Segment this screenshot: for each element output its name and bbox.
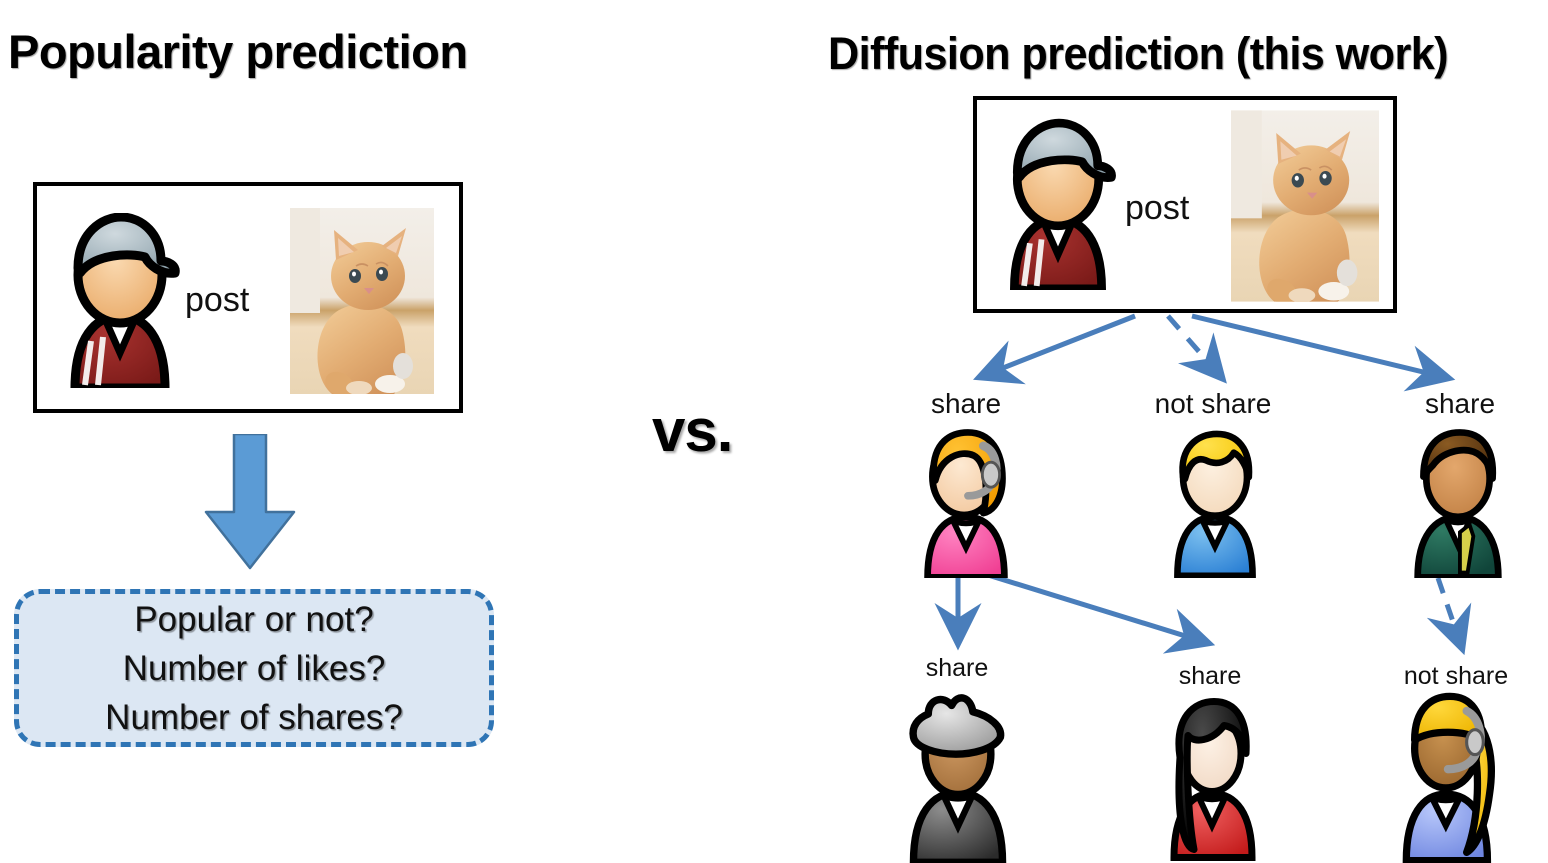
- callout-line-1: Popular or not?: [134, 595, 373, 644]
- user-avatar-cap-red-icon: [55, 213, 185, 388]
- post-label-left: post: [185, 281, 249, 320]
- kitten-photo-left: [290, 208, 434, 394]
- edge-label-share-4: share: [1179, 662, 1242, 691]
- popularity-questions-callout: Popular or not? Number of likes? Number …: [14, 589, 494, 747]
- post-label-right: post: [1125, 189, 1189, 228]
- edge-green-to-helmet: [1438, 578, 1462, 648]
- edge-label-share-3: share: [926, 654, 989, 683]
- page-title-left: Popularity prediction: [8, 24, 468, 79]
- vs-label: vs.: [652, 396, 732, 465]
- user-avatar-helmet-headset-blue-icon: [1398, 692, 1502, 863]
- edge-post-to-left: [980, 316, 1135, 377]
- user-avatar-blonde-blue-icon: [1168, 428, 1262, 578]
- edge-label-not-share-2: not share: [1404, 662, 1508, 691]
- user-avatar-cap-red-icon: [995, 118, 1121, 290]
- edge-label-not-share-1: not share: [1155, 388, 1272, 420]
- edge-label-share-2: share: [1425, 388, 1495, 420]
- kitten-photo-right: [1231, 110, 1379, 302]
- user-avatar-grayhat-gray-icon: [905, 692, 1011, 863]
- user-avatar-blackhair-red-icon: [1160, 692, 1260, 863]
- edge-pink-to-blackhair: [988, 575, 1208, 643]
- callout-line-2: Number of likes?: [123, 644, 386, 693]
- user-avatar-brown-suit-green-icon: [1410, 428, 1506, 578]
- edge-label-share-1: share: [931, 388, 1001, 420]
- down-block-arrow-icon: [204, 434, 296, 570]
- slide-canvas: Popularity prediction Diffusion predicti…: [0, 0, 1548, 863]
- user-avatar-headset-pink-icon: [918, 428, 1014, 578]
- page-title-right: Diffusion prediction (this work): [828, 28, 1448, 80]
- edge-post-to-right: [1192, 316, 1448, 378]
- callout-line-3: Number of shares?: [105, 693, 403, 742]
- edge-post-to-middle: [1168, 316, 1222, 378]
